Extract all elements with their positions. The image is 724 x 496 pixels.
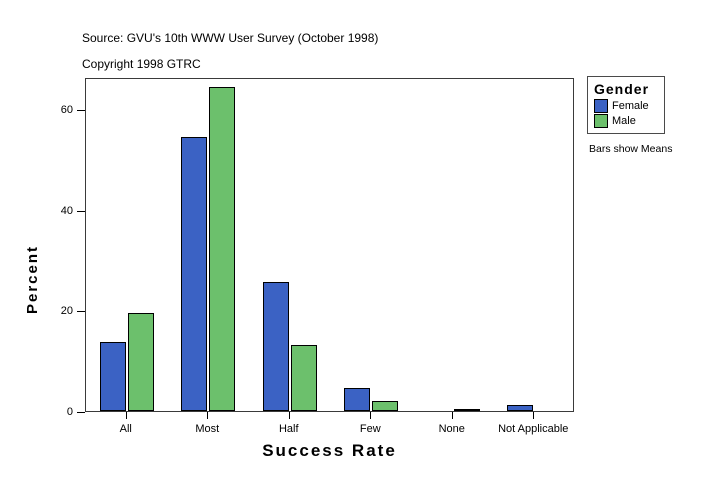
- y-tick-label: 20: [61, 305, 73, 317]
- bar-male-all: [128, 313, 154, 411]
- legend-title: Gender: [594, 81, 658, 97]
- y-tick: [77, 412, 85, 413]
- x-tick-label: Few: [360, 423, 381, 435]
- bar-female-few: [344, 388, 370, 411]
- bar-male-most: [209, 87, 235, 411]
- plot-area: [85, 78, 574, 412]
- y-tick: [77, 211, 85, 212]
- y-tick: [77, 311, 85, 312]
- y-axis: Percent 0204060: [0, 0, 85, 496]
- bar-female-half: [263, 282, 289, 411]
- bar-male-none: [454, 409, 480, 411]
- legend-swatch-male: [594, 114, 608, 128]
- legend-item-female: Female: [594, 99, 658, 113]
- x-tick-label: Not Applicable: [498, 423, 568, 435]
- x-tick: [533, 412, 534, 419]
- x-tick-label: All: [120, 423, 132, 435]
- legend-item-male: Male: [594, 114, 658, 128]
- y-tick-label: 60: [61, 104, 73, 116]
- bars-layer: [86, 79, 573, 411]
- x-tick: [207, 412, 208, 419]
- source-text: Source: GVU's 10th WWW User Survey (Octo…: [82, 31, 378, 45]
- y-axis-title: Percent: [24, 245, 41, 314]
- y-tick-label: 40: [61, 205, 73, 217]
- copyright-text: Copyright 1998 GTRC: [82, 57, 201, 71]
- x-tick-label: Half: [279, 423, 299, 435]
- x-tick: [289, 412, 290, 419]
- x-axis-title: Success Rate: [85, 441, 574, 461]
- bar-male-few: [372, 401, 398, 411]
- bar-female-not-applicable: [507, 405, 533, 411]
- x-tick: [452, 412, 453, 419]
- x-tick-label: Most: [195, 423, 219, 435]
- legend-swatch-female: [594, 99, 608, 113]
- y-tick-label: 0: [67, 406, 73, 418]
- legend: Gender Female Male: [587, 76, 665, 134]
- x-tick: [126, 412, 127, 419]
- legend-label-female: Female: [612, 100, 649, 112]
- legend-label-male: Male: [612, 115, 636, 127]
- bar-female-all: [100, 342, 126, 411]
- x-tick-label: None: [439, 423, 465, 435]
- y-tick: [77, 110, 85, 111]
- bar-male-half: [291, 345, 317, 411]
- x-tick: [370, 412, 371, 419]
- legend-note: Bars show Means: [589, 143, 672, 155]
- bar-female-most: [181, 137, 207, 411]
